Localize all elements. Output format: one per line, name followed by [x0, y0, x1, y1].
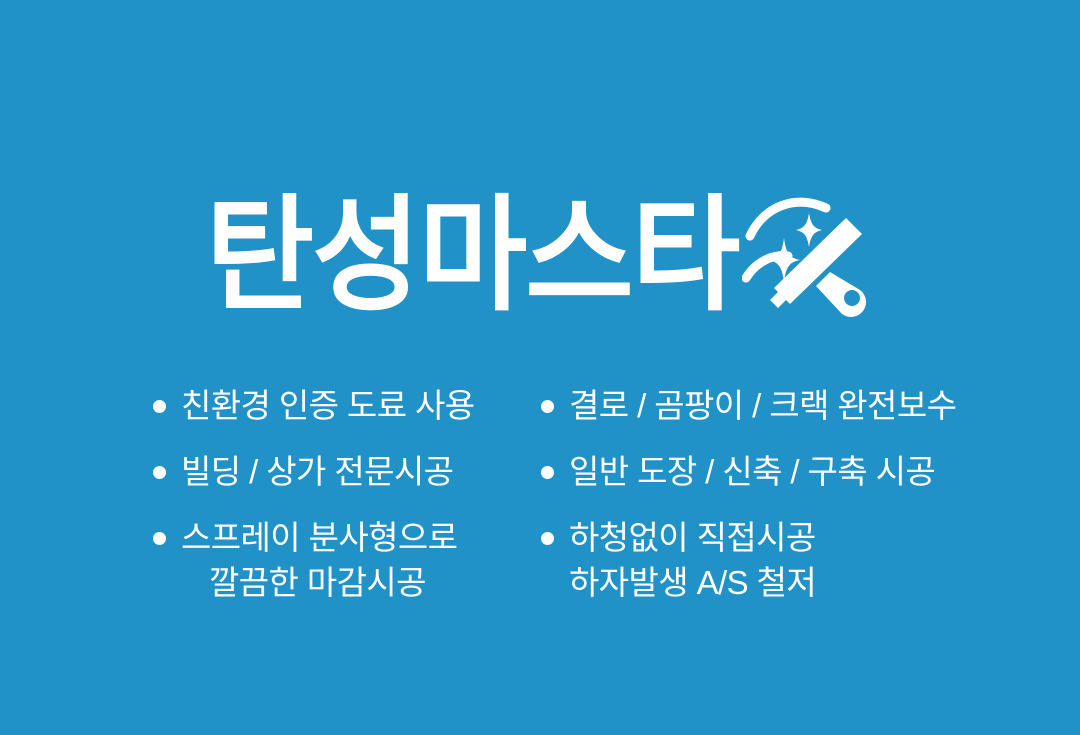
feature-line-1: 하청없이 직접시공	[569, 519, 816, 556]
paint-roller-sparkle-icon	[742, 192, 874, 320]
paint-roller-handle-hole	[844, 290, 860, 306]
feature-item: 스프레이 분사형으로 깔끔한 마감시공	[153, 516, 541, 604]
sparkle-star-small	[796, 213, 822, 247]
bullet-dot-icon	[153, 532, 166, 545]
feature-item: 빌딩 / 상가 전문시공	[153, 450, 541, 494]
bullet-dot-icon	[541, 400, 554, 413]
bullet-dot-icon	[153, 466, 166, 479]
feature-text: 결로 / 곰팡이 / 크랙 완전보수	[569, 384, 956, 428]
feature-text: 하청없이 직접시공 하자발생 A/S 철저	[569, 516, 816, 604]
bullet-dot-icon	[541, 532, 554, 545]
feature-line-1: 결로 / 곰팡이 / 크랙 완전보수	[569, 387, 956, 424]
feature-item: 결로 / 곰팡이 / 크랙 완전보수	[541, 384, 929, 428]
feature-item: 친환경 인증 도료 사용	[153, 384, 541, 428]
feature-text: 빌딩 / 상가 전문시공	[181, 450, 453, 494]
feature-line-1: 친환경 인증 도료 사용	[181, 387, 475, 424]
feature-line-2: 깔끔한 마감시공	[181, 561, 457, 605]
feature-text: 친환경 인증 도료 사용	[181, 384, 475, 428]
promo-banner: 탄성마스타 친환경 인증 도료 사용	[0, 0, 1080, 735]
bullet-dot-icon	[153, 400, 166, 413]
feature-item: 하청없이 직접시공 하자발생 A/S 철저	[541, 516, 929, 604]
feature-line-2: 하자발생 A/S 철저	[569, 561, 816, 605]
feature-line-1: 빌딩 / 상가 전문시공	[181, 453, 453, 490]
feature-column-left: 친환경 인증 도료 사용 빌딩 / 상가 전문시공 스프레이 분사형으로 깔끔한…	[153, 384, 541, 605]
feature-line-1: 일반 도장 / 신축 / 구축 시공	[569, 453, 935, 490]
logo-block: 탄성마스타	[0, 186, 1080, 326]
feature-list: 친환경 인증 도료 사용 빌딩 / 상가 전문시공 스프레이 분사형으로 깔끔한…	[0, 384, 1080, 614]
bullet-dot-icon	[541, 466, 554, 479]
feature-text: 일반 도장 / 신축 / 구축 시공	[569, 450, 935, 494]
feature-line-1: 스프레이 분사형으로	[181, 519, 457, 556]
feature-item: 일반 도장 / 신축 / 구축 시공	[541, 450, 929, 494]
feature-text: 스프레이 분사형으로 깔끔한 마감시공	[181, 516, 457, 604]
feature-column-right: 결로 / 곰팡이 / 크랙 완전보수 일반 도장 / 신축 / 구축 시공 하청…	[541, 384, 929, 605]
brand-wordmark: 탄성마스타	[206, 193, 739, 318]
